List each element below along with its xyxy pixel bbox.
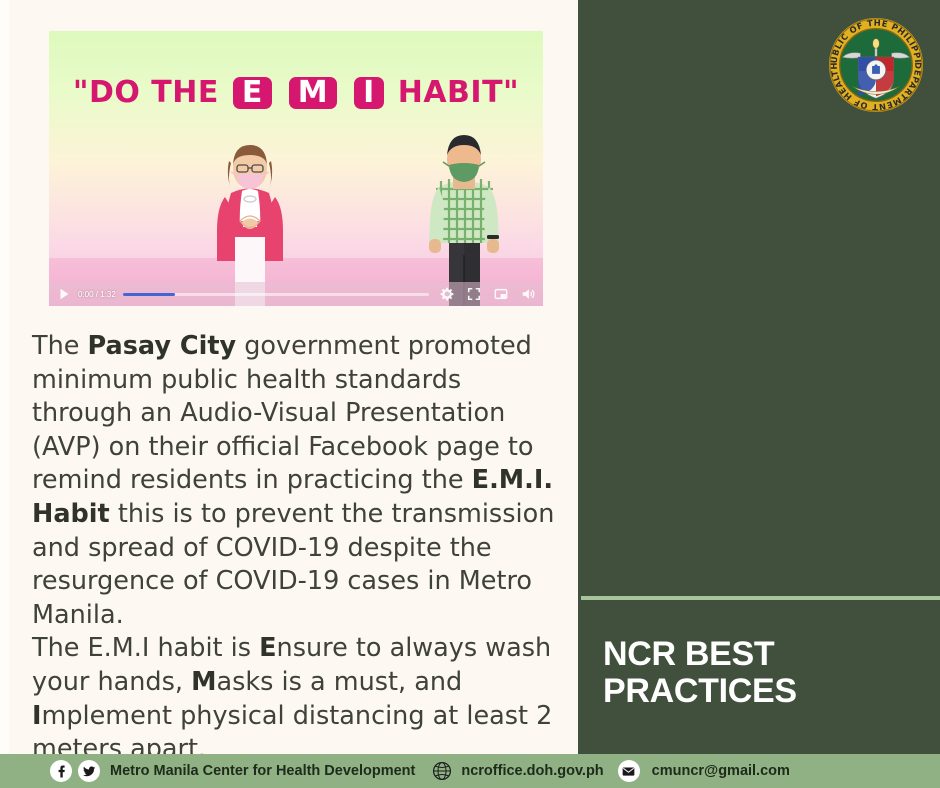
video-headline-letter-m: M bbox=[289, 77, 337, 109]
left-accent-stripe bbox=[0, 0, 9, 754]
p2-text-1: The E.M.I habit is bbox=[32, 633, 259, 663]
p1-bold-pasay-city: Pasay City bbox=[88, 331, 237, 361]
video-time-display: 0:00 / 1:32 bbox=[78, 290, 116, 299]
doh-seal-icon: REPUBLIC OF THE PHILIPPINES DEPARTMENT O… bbox=[827, 16, 925, 114]
page-title-line2: PRACTICES bbox=[603, 673, 933, 710]
footer-email[interactable]: cmuncr@gmail.com bbox=[652, 763, 790, 779]
illustration-woman-with-mask bbox=[195, 139, 305, 306]
video-headline-letter-e: E bbox=[233, 77, 272, 109]
page-title: NCR BEST PRACTICES bbox=[603, 636, 933, 710]
article-paragraph-1: The Pasay City government promoted minim… bbox=[32, 330, 562, 632]
video-headline-prefix: "DO THE bbox=[73, 75, 219, 110]
video-progress-bar[interactable] bbox=[123, 293, 429, 296]
envelope-glyph-icon bbox=[622, 765, 635, 778]
video-progress-fill bbox=[123, 293, 175, 296]
miniplayer-icon[interactable] bbox=[494, 287, 508, 301]
article-body: The Pasay City government promoted minim… bbox=[32, 330, 562, 767]
p1-text-1: The bbox=[32, 331, 88, 361]
p2-text-3: asks is a must, and bbox=[216, 667, 462, 697]
p1-text-3: this is to prevent the transmission and … bbox=[32, 499, 554, 630]
panel-divider bbox=[581, 596, 940, 600]
volume-icon[interactable] bbox=[521, 287, 535, 301]
video-right-controls[interactable] bbox=[440, 287, 535, 301]
mail-icon[interactable] bbox=[618, 760, 640, 782]
video-player[interactable]: "DO THE E M I HABIT" bbox=[49, 31, 543, 306]
doh-seal-logo: REPUBLIC OF THE PHILIPPINES DEPARTMENT O… bbox=[827, 16, 925, 114]
play-icon[interactable] bbox=[57, 287, 71, 301]
p2-bold-m: M bbox=[191, 667, 216, 697]
p2-bold-i: I bbox=[32, 701, 42, 731]
footer-website[interactable]: ncroffice.doh.gov.ph bbox=[461, 763, 603, 779]
footer-org-name: Metro Manila Center for Health Developme… bbox=[110, 763, 415, 779]
p2-bold-e: E bbox=[259, 633, 276, 663]
twitter-glyph-icon bbox=[83, 765, 96, 778]
page-title-line1: NCR BEST bbox=[603, 635, 774, 673]
video-headline-letter-i: I bbox=[354, 77, 384, 109]
gear-icon[interactable] bbox=[440, 287, 454, 301]
poster-canvas: REPUBLIC OF THE PHILIPPINES DEPARTMENT O… bbox=[0, 0, 940, 788]
footer-bar: Metro Manila Center for Health Developme… bbox=[0, 754, 940, 788]
twitter-icon[interactable] bbox=[78, 760, 100, 782]
video-headline: "DO THE E M I HABIT" bbox=[49, 75, 543, 110]
video-control-bar[interactable]: 0:00 / 1:32 bbox=[49, 282, 543, 306]
illustration-man-with-mask bbox=[409, 131, 519, 306]
article-paragraph-2: The E.M.I habit is Ensure to always wash… bbox=[32, 632, 562, 766]
video-headline-suffix: HABIT" bbox=[398, 75, 519, 110]
globe-icon[interactable] bbox=[431, 760, 453, 782]
facebook-icon[interactable] bbox=[50, 760, 72, 782]
fullscreen-icon[interactable] bbox=[467, 287, 481, 301]
facebook-glyph-icon bbox=[55, 765, 68, 778]
